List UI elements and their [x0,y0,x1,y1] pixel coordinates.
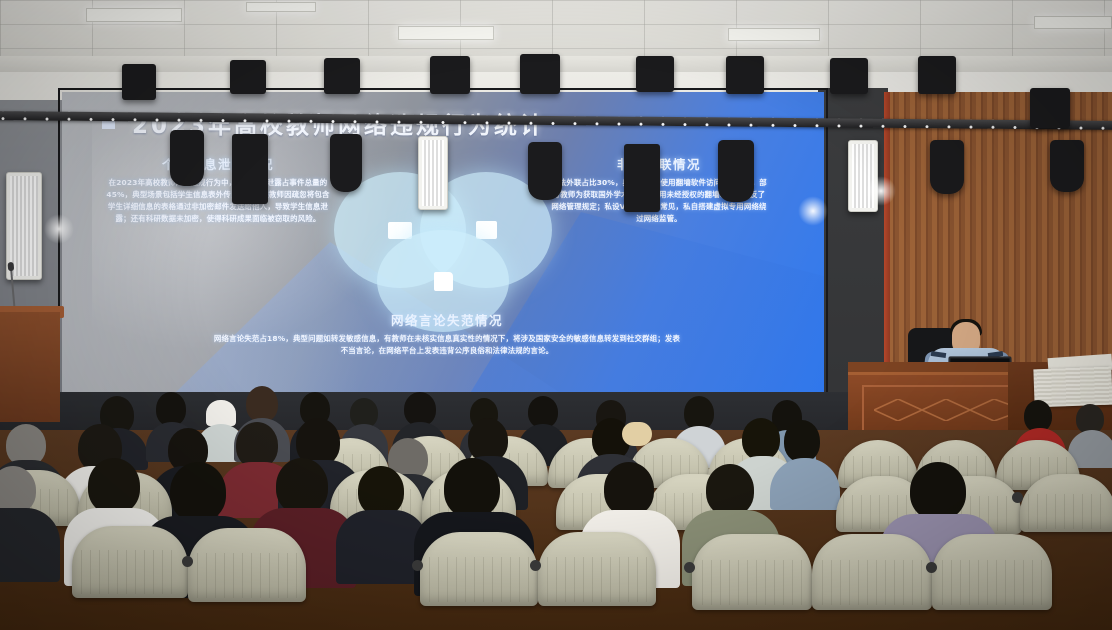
auditorium-seat[interactable] [188,528,306,602]
stage-light-fixture [330,134,362,192]
ceiling-light-panel [398,26,494,40]
stage-light-fixture [718,140,754,202]
stage-light-fixture [636,56,674,92]
ceiling-light-panel [246,2,316,12]
stage-light-fixture [122,64,156,100]
screenshot-root: 2023年高校教师网络违规行为统计 个人信息泄露情况 在2023年高校教师网络违… [0,0,1112,630]
ceiling-light-panel [728,28,820,41]
stage-light-fixture [528,142,562,200]
stage-light-fixture [418,136,448,210]
seat-hinge [530,560,541,571]
stage-light-fixture [726,56,764,94]
stage-light-fixture [1050,140,1084,192]
auditorium-seat[interactable] [72,526,188,598]
seat-hinge [1012,492,1023,503]
podium-zigzag-ornament [874,399,1024,421]
stage-light-fixture [430,56,470,94]
auditorium-seat[interactable] [812,534,932,610]
stage-light-fixture [624,144,660,212]
stage-light-fixture [520,54,560,94]
stage-light-fixture [930,140,964,194]
seat-hinge [684,562,695,573]
lens-flare [866,176,896,206]
ceiling-light-panel [1034,16,1112,29]
stage-light-fixture [918,56,956,94]
auditorium-seat[interactable] [538,532,656,606]
auditorium-seat[interactable] [692,534,812,610]
stage-light-fixture [324,58,360,94]
auditorium-seat[interactable] [1020,474,1112,532]
stage-light-fixture [170,130,204,186]
stage-light-fixture [1030,88,1070,128]
lens-flare [44,214,74,244]
auditorium-seat[interactable] [932,534,1052,610]
ceiling-light-panel [86,8,182,22]
auditorium-seat[interactable] [420,532,538,606]
stage-light-fixture [830,58,868,94]
seat-hinge [926,562,937,573]
lectern [0,312,60,422]
lens-flare [798,196,828,226]
stage-light-fixture [230,60,266,94]
stage-light-fixture [232,134,268,204]
stacked-papers [1033,367,1112,408]
seat-hinge [412,560,423,571]
seat-hinge [182,556,193,567]
